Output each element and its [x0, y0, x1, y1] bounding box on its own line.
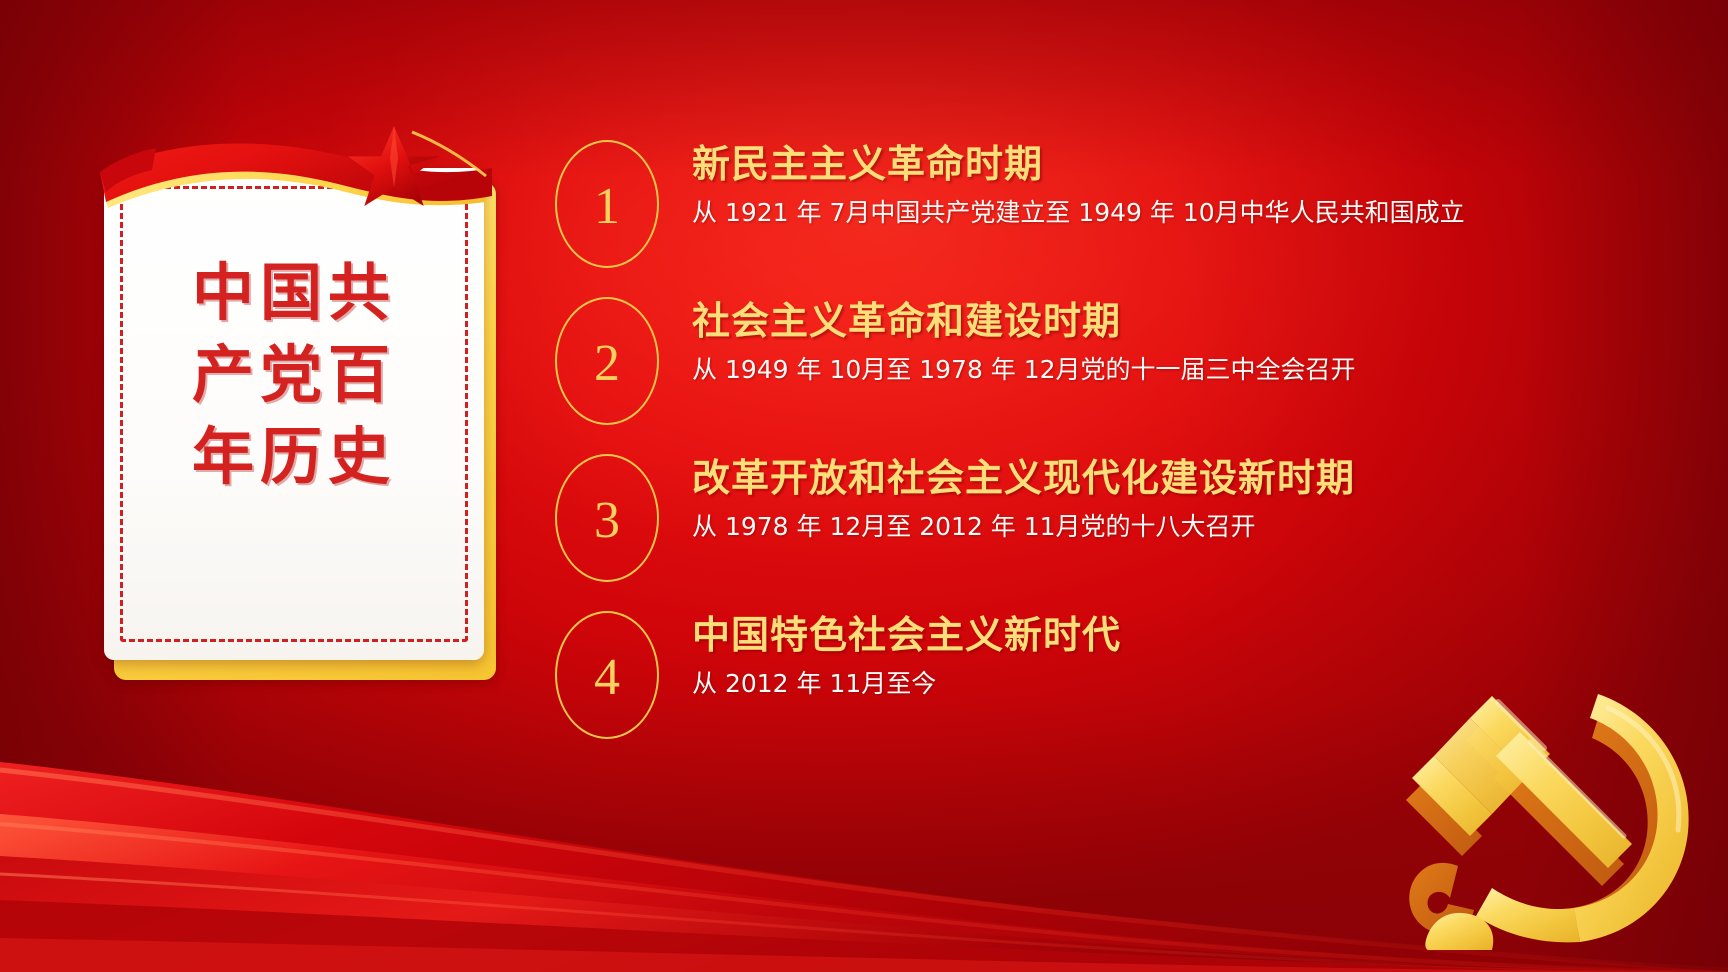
title-card: 中国共 产党百 年历史	[104, 168, 496, 680]
poster-canvas: 中国共 产党百 年历史	[0, 0, 1728, 972]
item-texts: 新民主主义革命时期 从 1921 年 7月中国共产党建立至 1949 年 10月…	[666, 136, 1678, 230]
list-item[interactable]: 1 新民主主义革命时期 从 1921 年 7月中国共产党建立至 1949 年 1…	[548, 136, 1678, 293]
item-number-badge: 3	[548, 452, 666, 584]
title-line-2: 产党百	[104, 334, 484, 416]
item-description: 从 1978 年 12月至 2012 年 11月党的十八大召开	[692, 509, 1492, 545]
list-item[interactable]: 3 改革开放和社会主义现代化建设新时期 从 1978 年 12月至 2012 年…	[548, 450, 1678, 607]
item-number: 3	[548, 452, 666, 584]
item-description: 从 1949 年 10月至 1978 年 12月党的十一届三中全会召开	[692, 352, 1492, 388]
item-number: 2	[548, 295, 666, 427]
item-title: 社会主义革命和建设时期	[692, 299, 1678, 344]
item-description: 从 2012 年 11月至今	[692, 666, 1492, 702]
list-item[interactable]: 2 社会主义革命和建设时期 从 1949 年 10月至 1978 年 12月党的…	[548, 293, 1678, 450]
item-texts: 改革开放和社会主义现代化建设新时期 从 1978 年 12月至 2012 年 1…	[666, 450, 1678, 544]
item-number-badge: 1	[548, 138, 666, 270]
title-card-text: 中国共 产党百 年历史	[104, 252, 484, 497]
item-title: 新民主主义革命时期	[692, 142, 1678, 187]
item-title: 改革开放和社会主义现代化建设新时期	[692, 456, 1678, 501]
cpc-hammer-sickle-icon	[1380, 650, 1710, 950]
item-number: 1	[548, 138, 666, 270]
item-number: 4	[548, 609, 666, 741]
item-number-badge: 2	[548, 295, 666, 427]
title-line-3: 年历史	[104, 416, 484, 498]
item-description: 从 1921 年 7月中国共产党建立至 1949 年 10月中华人民共和国成立	[692, 195, 1492, 231]
item-texts: 社会主义革命和建设时期 从 1949 年 10月至 1978 年 12月党的十一…	[666, 293, 1678, 387]
item-number-badge: 4	[548, 609, 666, 741]
ribbon-star-decoration	[94, 126, 514, 266]
